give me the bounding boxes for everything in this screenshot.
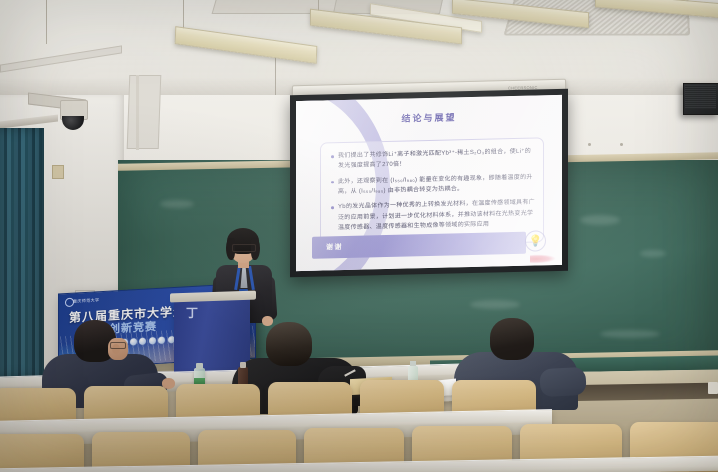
sponsor-logo-icon: [158, 336, 165, 343]
wall-screw: [588, 143, 591, 146]
wall-conduit-pipe: [136, 75, 139, 150]
podium-mark: 丁: [186, 304, 204, 320]
wall-screw: [620, 143, 623, 146]
speaker-grille-icon: [685, 85, 716, 109]
slide-bullet: 我们提出了共修饰Li⁺离子和激光匹配Yb³⁺-稀土S₂O₃的组合，使Li⁺的发光…: [331, 147, 535, 172]
slide-footer-label: 谢谢: [326, 242, 343, 252]
judge-right-arm: [539, 367, 586, 397]
beverage-bottle-cap: [240, 362, 246, 368]
cup[interactable]: [708, 382, 718, 394]
slide-bullet: 此外，还观察到在 (I₅₅₀/I₉₈₀) 能量在变化的有趣现象，即随着温度的升高…: [331, 172, 535, 197]
chalk-smudge: [600, 330, 660, 338]
slide-corner-logo: [530, 254, 556, 264]
chalk-smudge: [470, 300, 520, 309]
glasses-icon: [110, 342, 126, 349]
light-hanger: [46, 0, 47, 44]
chalk-smudge: [580, 215, 620, 225]
wall-conduit: [127, 75, 162, 149]
projection-screen: 结论与展望 我们提出了共修饰Li⁺离子和激光匹配Yb³⁺-稀土S₂O₃的组合，使…: [296, 95, 562, 271]
glasses-icon: [232, 244, 256, 252]
wall-switch[interactable]: [52, 165, 64, 179]
slide-bullet: Yb的发光晶体作为一种优秀的上转换发光材料，在温度传感领域具有广泛的应用前景，计…: [331, 198, 535, 234]
banner-university-name: 重庆师范大学: [73, 297, 99, 304]
chair[interactable]: [360, 380, 444, 416]
water-bottle-cap: [196, 363, 203, 369]
water-bottle-cap: [410, 361, 416, 366]
classroom-photo: CHEERSONIC 结论与展望 我们提出了共修饰Li⁺离子和激光匹配Yb³⁺-…: [0, 0, 718, 472]
chalk-smudge: [160, 200, 194, 208]
chalk-smudge: [640, 250, 666, 257]
judge-center-head: [266, 322, 312, 366]
judge-right-head: [490, 318, 534, 360]
